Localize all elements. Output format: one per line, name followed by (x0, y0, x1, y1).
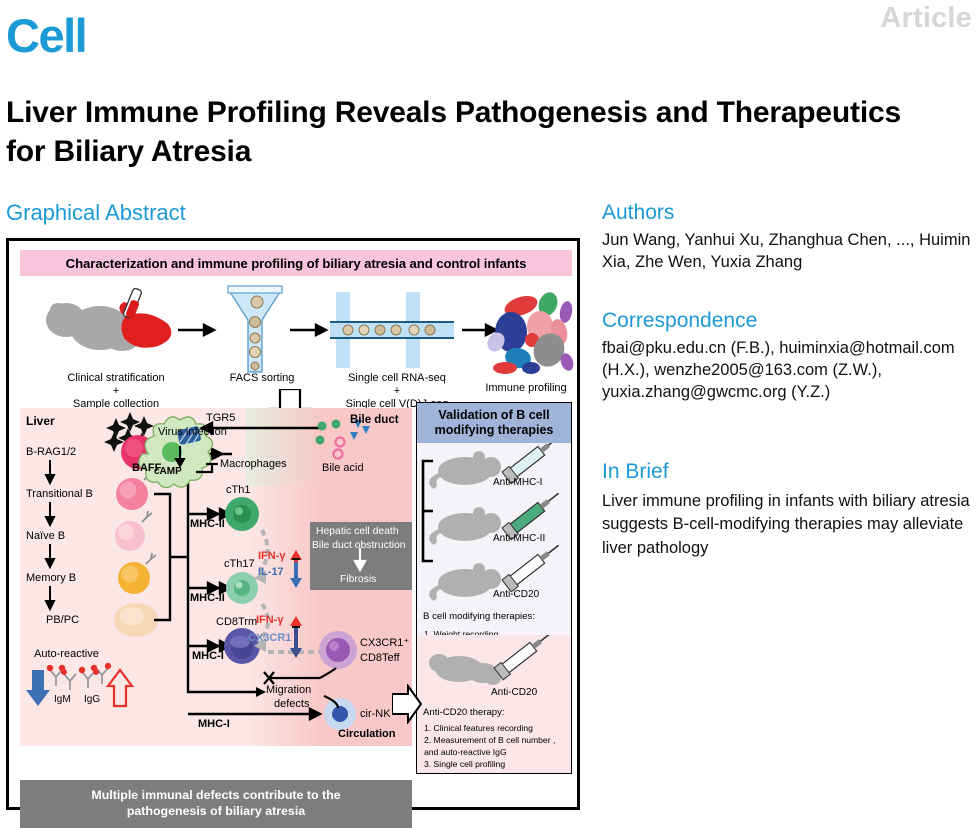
treatment-label-1: Anti-MHC-II (493, 533, 545, 544)
antibody-icons (50, 668, 108, 690)
macrophages-label: Macrophages (220, 458, 287, 470)
cx3cr1-teff-label-line1: CX3CR1⁺ (360, 636, 409, 649)
b-lineage-label-0: B-RAG1/2 (26, 446, 76, 458)
ifng-il17-arrows (290, 550, 302, 588)
bcr-receptor-icons (142, 469, 156, 564)
auto-reactive-label: Auto-reactive (34, 648, 99, 660)
cx3cr1-cd8teff-icon (319, 631, 357, 669)
ifn-gamma-label-upper: IFN-γ (258, 550, 286, 562)
workflow-row: Clinical stratification + Sample collect… (18, 280, 574, 400)
validation-header-line1: Validation of B cell (438, 408, 549, 423)
figure-top-banner-text: Characterization and immune profiling of… (66, 256, 527, 271)
article-type-kicker: Article (880, 2, 972, 35)
page-title: Liver Immune Profiling Reveals Pathogene… (6, 93, 936, 171)
b-lineage-label-4: PB/PC (46, 614, 79, 626)
fibrosis-arrow (355, 548, 365, 570)
liver-region-label: Liver (26, 414, 55, 428)
syringe-icon-2 (502, 487, 563, 539)
cir-nk-icon (324, 698, 356, 730)
mouse-group-bracket (423, 461, 433, 561)
workflow-caption-3-line1: Single cell RNA-seq (324, 372, 470, 385)
bile-duct-title: Bile duct (350, 414, 399, 426)
circulation-label: Circulation (338, 728, 395, 740)
mouse-icon-3 (429, 563, 501, 601)
cx3cr1-label: CX3CR1 (248, 632, 291, 644)
workflow-arrow-2 (290, 325, 326, 335)
correspondence-heading: Correspondence (602, 309, 980, 333)
figure-top-banner: Characterization and immune profiling of… (20, 250, 572, 276)
human-item-0: 1. Clinical features recording (424, 723, 533, 734)
workflow-caption-3-plus: + (324, 385, 470, 398)
human-item-2: and auto-reactive IgG (424, 747, 507, 758)
cth17-icon (226, 572, 258, 604)
treatment-label-0: Anti-MHC-I (493, 477, 542, 488)
validation-mouse-section: Anti-MHC-I Anti-MHC-II Anti-CD20 B cell … (417, 443, 571, 635)
b-cell-bracket (154, 494, 188, 620)
b-lineage-label-1: Transitional B (26, 488, 93, 500)
validation-human-section: Anti-CD20 Anti-CD20 therapy: 1. Clinical… (417, 635, 571, 773)
cth1-label: cTh1 (226, 484, 250, 496)
therapies-list-title: B cell modifying therapies: (423, 611, 535, 623)
human-item-1: 2. Measurement of B cell number , (424, 735, 555, 746)
cth17-label: cTh17 (224, 558, 255, 570)
bile-acid-label: Bile acid (322, 462, 364, 474)
igg-up-arrow-icon (108, 670, 132, 706)
workflow-arrow-1 (178, 325, 214, 335)
bottom-banner-line2: pathogenesis of biliary atresia (127, 804, 305, 820)
cd8trm-label: CD8Trm (216, 616, 257, 628)
tgr5-label: TGR5 (206, 412, 235, 424)
human-item-3: 3. Single cell profiling (424, 759, 505, 770)
treatment-label-2: Anti-CD20 (493, 589, 539, 600)
workflow-caption-2-text: FACS sorting (204, 372, 320, 385)
hepatic-cell-death-label: Hepatic cell death (316, 526, 399, 537)
mhc-label-1: MHC-II (190, 592, 225, 604)
microfluidics-icon (330, 292, 454, 368)
graphical-abstract-figure: Characterization and immune profiling of… (6, 238, 580, 810)
human-therapy-title: Anti-CD20 therapy: (423, 707, 505, 719)
figure-bottom-banner: Multiple immunal defects contribute to t… (20, 780, 412, 828)
mhc-arrows (188, 509, 230, 651)
workflow-caption-4: Immune profiling (480, 382, 572, 395)
cir-nk-label: cir-NK (360, 708, 391, 720)
mhc-label-0: MHC-II (190, 518, 225, 530)
human-treatment-label: Anti-CD20 (491, 687, 537, 698)
in-brief-heading: In Brief (602, 460, 980, 484)
authors-heading: Authors (602, 201, 980, 225)
cth1-icon (225, 497, 259, 531)
igg-label: IgG (84, 694, 100, 705)
migration-defects-line1: Migration (266, 684, 311, 696)
right-pointing-arrow-icon (392, 684, 422, 724)
workflow-arrow-3 (462, 325, 496, 335)
workflow-caption-2: FACS sorting (204, 372, 320, 385)
ifn-gamma-label-lower: IFN-γ (256, 614, 284, 626)
tsne-cluster-plot (484, 290, 574, 374)
mouse-icon-2 (429, 507, 501, 545)
authors-list: Jun Wang, Yanhui Xu, Zhanghua Chen, ...,… (602, 230, 980, 274)
mouse-icon-1 (429, 451, 501, 489)
syringe-icon-3 (502, 539, 563, 591)
b-lineage-label-2: Naïve B (26, 530, 65, 542)
graphical-abstract-heading: Graphical Abstract (6, 200, 186, 226)
infant-silhouette-icon (429, 654, 501, 685)
cell-journal-logo: Cell (6, 14, 86, 59)
virus-infection-label: Virus infection (158, 426, 227, 438)
validation-panel-header: Validation of B cell modifying therapies (417, 403, 571, 443)
workflow-caption-1-line1: Clinical stratification (36, 372, 196, 385)
b-lineage-label-3: Memory B (26, 572, 76, 584)
il17-label: IL-17 (258, 566, 284, 578)
in-brief-text: Liver immune profiling in infants with b… (602, 490, 980, 560)
correspondence-emails: fbai@pku.edu.cn (F.B.), huiminxia@hotmai… (602, 338, 980, 403)
cx3cr1-teff-label-line2: CD8Teff (360, 652, 400, 664)
mhc-label-2: MHC-I (192, 650, 224, 662)
fibrosis-label: Fibrosis (340, 574, 376, 585)
workflow-caption-1-plus: + (36, 385, 196, 398)
igm-down-arrow-icon (26, 670, 50, 706)
syringe-icon-4 (494, 635, 555, 680)
bottom-banner-line1: Multiple immunal defects contribute to t… (91, 788, 340, 804)
workflow-caption-4-text: Immune profiling (480, 382, 572, 395)
validation-panel: Validation of B cell modifying therapies (416, 402, 572, 774)
migration-defects-line2: defects (274, 698, 309, 710)
facs-funnel-icon (228, 286, 282, 372)
validation-header-line2: modifying therapies (435, 423, 554, 438)
camp-label: cAMP (154, 466, 182, 477)
bile-duct-obstruction-label: Bile duct obstruction (312, 540, 406, 551)
mhc-label-3: MHC-I (198, 718, 230, 730)
igm-label: IgM (54, 694, 71, 705)
